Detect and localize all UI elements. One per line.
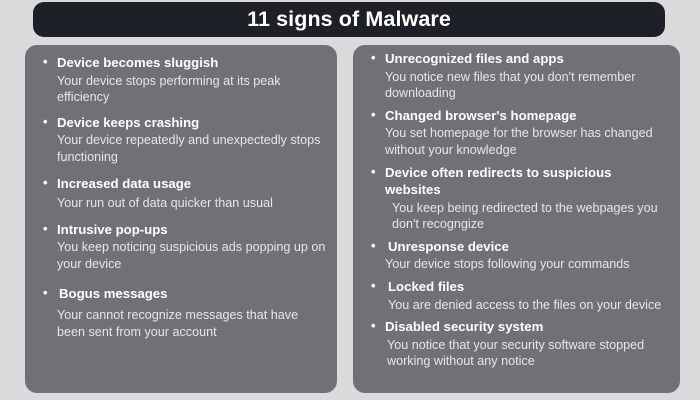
sign-description: Your device repeatedly and unexpectedly … (35, 132, 327, 165)
sign-heading: Device often redirects to suspicious web… (363, 164, 670, 199)
sign-heading: Device becomes sluggish (35, 54, 327, 72)
sign-heading: Disabled security system (363, 318, 670, 336)
page-title: 11 signs of Malware (247, 9, 451, 31)
list-item: Increased data usage Your run out of dat… (35, 175, 327, 212)
sign-heading: Intrusive pop-ups (35, 221, 327, 239)
sign-description: Your run out of data quicker than usual (35, 195, 327, 212)
title-banner: 11 signs of Malware (33, 2, 665, 37)
sign-description: You set homepage for the browser has cha… (363, 125, 670, 158)
list-item: Intrusive pop-ups You keep noticing susp… (35, 221, 327, 273)
sign-description: You keep noticing suspicious ads popping… (35, 239, 327, 272)
sign-description: Your device stops following your command… (363, 256, 670, 273)
sign-description: You are denied access to the files on yo… (363, 297, 670, 314)
sign-heading: Locked files (363, 278, 670, 296)
sign-description: Your cannot recognize messages that have… (35, 307, 327, 340)
signs-list-right-column: Unrecognized files and apps You notice n… (353, 45, 680, 393)
sign-heading: Unrecognized files and apps (363, 50, 670, 68)
list-item: Disabled security system You notice that… (363, 318, 670, 370)
sign-heading: Increased data usage (35, 175, 327, 193)
list-item: Unrecognized files and apps You notice n… (363, 50, 670, 102)
list-item: Device often redirects to suspicious web… (363, 164, 670, 233)
sign-heading: Bogus messages (35, 285, 327, 303)
sign-heading: Changed browser's homepage (363, 107, 670, 125)
sign-description: You notice that your security software s… (363, 337, 670, 370)
list-item: Locked files You are denied access to th… (363, 278, 670, 313)
list-item: Unresponse device Your device stops foll… (363, 238, 670, 273)
list-item: Device keeps crashing Your device repeat… (35, 114, 327, 166)
sign-description: You keep being redirected to the webpage… (363, 200, 670, 233)
list-item: Bogus messages Your cannot recognize mes… (35, 285, 327, 340)
sign-description: You notice new files that you don't reme… (363, 69, 670, 102)
sign-heading: Device keeps crashing (35, 114, 327, 132)
sign-heading: Unresponse device (363, 238, 670, 256)
list-item: Changed browser's homepage You set homep… (363, 107, 670, 159)
list-item: Device becomes sluggish Your device stop… (35, 54, 327, 106)
signs-list-left-column: Device becomes sluggish Your device stop… (25, 45, 337, 393)
sign-description: Your device stops performing at its peak… (35, 73, 327, 106)
